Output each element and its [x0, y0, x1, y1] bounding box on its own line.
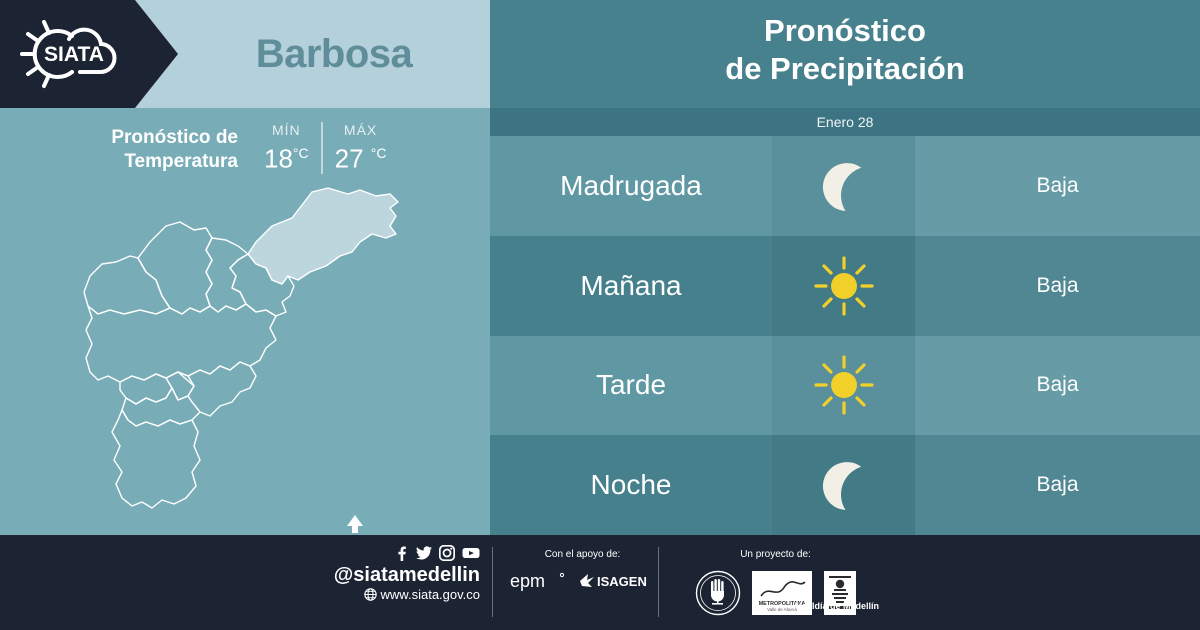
map-region-bello	[138, 222, 212, 314]
forecast-date: Enero 28	[817, 114, 874, 130]
row-weather-icon-cell	[772, 435, 915, 535]
row-weather-icon-cell	[772, 336, 915, 436]
row-weather-icon-cell	[772, 136, 915, 236]
twitter-icon[interactable]	[416, 545, 432, 561]
page-title: Barbosa	[178, 0, 490, 108]
map-region-envigado	[178, 362, 256, 416]
siata-wordmark: SIATA	[44, 43, 104, 66]
temperature-min: MÍN 18°C	[252, 122, 321, 174]
moon-icon	[813, 454, 875, 516]
footer: @siatamedellin www.siata.gov.co Con el a…	[0, 535, 1200, 630]
epm-logo: epm	[510, 570, 568, 592]
support-block: Con el apoyo de: epm ISAGEN	[505, 549, 660, 592]
social-icons	[300, 545, 480, 561]
row-probability: Baja	[915, 336, 1200, 436]
instagram-icon[interactable]	[439, 545, 455, 561]
precipitation-title-line1: Pronóstico	[764, 13, 926, 48]
siata-logo-pennant[interactable]: SIATA	[0, 0, 178, 108]
map-svg	[60, 180, 440, 530]
project-block: Un proyecto de:	[668, 549, 883, 616]
row-probability: Baja	[915, 236, 1200, 336]
temperature-min-unit: °C	[293, 145, 309, 161]
row-probability: Baja	[915, 136, 1200, 236]
weather-forecast-poster: SIATA Barbosa Pronóstico de Temperatura …	[0, 0, 1200, 630]
row-period: Noche	[490, 435, 772, 535]
table-row[interactable]: Noche Baja	[490, 435, 1200, 535]
precipitation-table: Madrugada Baja Mañana	[490, 136, 1200, 535]
row-period: Tarde	[490, 336, 772, 436]
precipitation-title-line2: de Precipitación	[725, 51, 964, 86]
alcaldia-label: Alcaldía de Medellín	[793, 601, 879, 611]
sun-icon	[813, 354, 875, 416]
udea-seal	[695, 570, 741, 616]
project-caption: Un proyecto de:	[668, 549, 883, 560]
left-panel: SIATA Barbosa Pronóstico de Temperatura …	[0, 0, 490, 535]
table-row[interactable]: Tarde	[490, 336, 1200, 436]
map-region-medellin	[86, 304, 276, 382]
map-region-northwest	[84, 256, 170, 314]
table-row[interactable]: Madrugada Baja	[490, 136, 1200, 236]
map-region-copacabana	[206, 238, 248, 312]
table-row[interactable]: Mañana	[490, 236, 1200, 336]
row-probability: Baja	[915, 435, 1200, 535]
temperature-max: MÁX 27 °C	[321, 122, 399, 174]
map-region-la-estrella	[122, 388, 200, 426]
website-line[interactable]: www.siata.gov.co	[300, 587, 480, 602]
temperature-max-value-wrap: 27 °C	[335, 138, 387, 174]
temperature-values: MÍN 18°C MÁX 27 °C	[252, 122, 399, 174]
isagen-logo: ISAGEN	[578, 571, 656, 591]
sun-cloud-icon: SIATA	[14, 14, 134, 94]
row-period: Mañana	[490, 236, 772, 336]
facebook-icon[interactable]	[393, 545, 409, 561]
map-region-barbosa	[248, 188, 398, 284]
sun-icon	[813, 255, 875, 317]
youtube-icon[interactable]	[462, 545, 480, 561]
map-region-caldas	[112, 410, 200, 508]
globe-icon	[364, 588, 377, 601]
temperature-title-line1: Pronóstico de	[111, 127, 238, 148]
forecast-date-band: Enero 28	[490, 108, 1200, 136]
temperature-min-value-wrap: 18°C	[264, 138, 309, 174]
temperature-min-value: 18	[264, 144, 293, 174]
temperature-max-unit: °C	[371, 145, 387, 161]
footer-divider-2	[658, 547, 659, 617]
precipitation-title: Pronóstico de Precipitación	[490, 12, 1200, 88]
social-block: @siatamedellin www.siata.gov.co	[300, 545, 480, 602]
support-caption: Con el apoyo de:	[505, 549, 660, 560]
svg-text:epm: epm	[510, 571, 545, 591]
svg-text:ISAGEN: ISAGEN	[597, 574, 647, 589]
temperature-max-label: MÁX	[335, 122, 387, 138]
social-handle[interactable]: @siatamedellin	[300, 563, 480, 587]
left-header: SIATA Barbosa	[0, 0, 490, 108]
temperature-title-line2: Temperatura	[124, 151, 238, 172]
temperature-min-label: MÍN	[264, 122, 309, 138]
support-logos: epm ISAGEN	[505, 570, 660, 592]
precipitation-panel: Pronóstico de Precipitación Enero 28 Mad…	[490, 0, 1200, 535]
row-period: Madrugada	[490, 136, 772, 236]
footer-divider-1	[492, 547, 493, 617]
website-url: www.siata.gov.co	[381, 587, 480, 602]
temperature-title: Pronóstico de Temperatura	[60, 122, 238, 174]
temperature-block: Pronóstico de Temperatura MÍN 18°C MÁX 2…	[60, 122, 440, 184]
temperature-max-value: 27	[335, 144, 364, 174]
row-weather-icon-cell	[772, 236, 915, 336]
aburra-valley-map[interactable]: N	[60, 180, 440, 530]
moon-icon	[813, 155, 875, 217]
